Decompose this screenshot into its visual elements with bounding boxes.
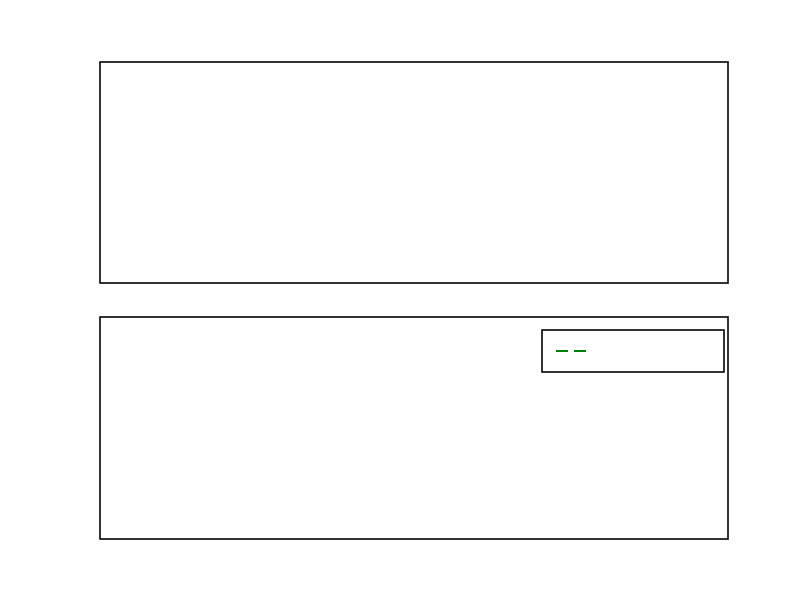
figure-canvas bbox=[0, 0, 800, 600]
top-plot-background bbox=[100, 62, 728, 283]
legend-frame bbox=[542, 330, 724, 372]
cumulative-histogram-axes bbox=[100, 317, 728, 539]
differential-histogram-axes bbox=[100, 62, 728, 283]
legend[interactable] bbox=[542, 330, 724, 372]
